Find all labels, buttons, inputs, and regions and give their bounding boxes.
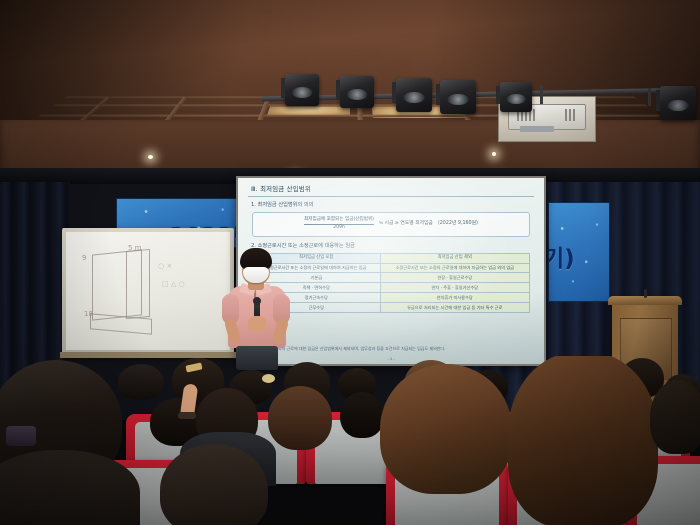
- whiteboard-note: 5 m: [128, 244, 142, 252]
- table-cell: 유급으로 처리되는 시간에 대한 임금 등 기타 특수 근로: [380, 303, 529, 313]
- wristwatch: [178, 412, 196, 419]
- formula-denominator: 209h: [304, 225, 374, 231]
- audience-area: [0, 356, 700, 525]
- table-cell: 소정근로시간 또는 소정의 근로일에 대하여 지급하는 임금 외의 임금: [380, 263, 529, 273]
- ceiling-downlight: [492, 152, 496, 156]
- attendee-head: [380, 364, 512, 494]
- table-row: 정기근속수당 연차휴가 미사용수당: [253, 293, 530, 303]
- slide-formula-box: 최저임금에 포함되는 임금(산입범위) 209h ≒ 시급 ≥ 연도별 최저임금…: [252, 212, 530, 237]
- attendee-head: [268, 386, 332, 450]
- stage-light: [500, 82, 532, 112]
- whiteboard: 9 5 m 18 ○ × □ △ ○: [66, 232, 230, 350]
- table-row: 기본급 연장 · 휴일근로수당: [253, 273, 530, 283]
- stage-light: [660, 86, 696, 120]
- table-row: 직책 · 면허수당 연차 · 주휴 · 휴일가산수당: [253, 283, 530, 293]
- hair-clip: [262, 374, 275, 383]
- light-arm: [648, 88, 651, 106]
- light-arm: [540, 86, 543, 104]
- attendee-head: [650, 380, 700, 454]
- slide-title: Ⅲ. 최저임금 산입범위: [248, 185, 534, 197]
- stage-light: [285, 74, 319, 106]
- table-cell: 연차 · 주휴 · 휴일가산수당: [380, 283, 529, 293]
- presenter: [218, 248, 294, 368]
- formula-fraction: 최저임금에 포함되는 임금(산입범위) 209h: [304, 217, 374, 232]
- formula-relation: ≒ 시급 ≥ 연도별 최저임금: [379, 221, 433, 227]
- auditorium-photo: 2022년 기) 9 5 m 18 ○ × □ △ ○ Ⅲ. 최저임금 산입범위…: [0, 0, 700, 525]
- hair-clip: [6, 426, 36, 446]
- formula-numerator: 최저임금에 포함되는 임금(산입범위): [304, 217, 374, 223]
- table-row: 근무수당 유급으로 처리되는 시간에 대한 임금 등 기타 특수 근로: [253, 303, 530, 313]
- table-cell: 연장 · 휴일근로수당: [380, 273, 529, 283]
- slide-section-1: 1. 최저임금 산입범위의 의의: [251, 202, 534, 209]
- presenter-hands: [248, 316, 266, 332]
- microphone-head: [253, 297, 261, 305]
- banner-right-text: 기): [548, 239, 575, 273]
- lectern-microphone: [644, 289, 647, 298]
- stage-light: [396, 78, 432, 112]
- banner-right: 기): [548, 202, 610, 302]
- stage-light: [440, 80, 476, 114]
- table-header-excluded: 최저임금 산입 제외: [380, 253, 529, 263]
- table-cell: 연차휴가 미사용수당: [380, 293, 529, 303]
- attendee-head: [508, 356, 658, 525]
- formula-note: (2022년 9,160원): [438, 221, 478, 227]
- attendee-head: [118, 364, 164, 400]
- table-header-row: 최저임금 산입 포함 최저임금 산입 제외: [253, 253, 530, 263]
- projector-lens: [520, 126, 554, 132]
- ceiling-downlight: [148, 155, 153, 159]
- stage-light: [340, 76, 374, 108]
- table-row: 소정근로시간 또는 소정의 근로일에 대하여 지급하는 임금 소정근로시간 또는…: [253, 263, 530, 273]
- attendee-head: [340, 392, 384, 438]
